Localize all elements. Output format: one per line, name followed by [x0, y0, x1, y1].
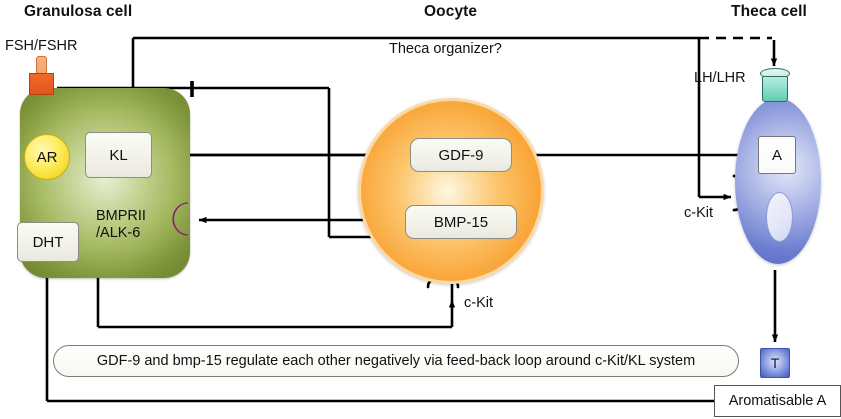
oocyte-ckit-label: c-Kit — [464, 295, 493, 311]
bmp15-node[interactable]: BMP-15 — [405, 205, 517, 239]
kl-node[interactable]: KL — [85, 132, 152, 178]
column-title-oocyte: Oocyte — [424, 3, 477, 21]
alk6-label-line2: /ALK-6 — [96, 225, 146, 242]
aromatisable-a-node[interactable]: Aromatisable A — [714, 385, 841, 417]
feedback-loop-banner: GDF-9 and bmp-15 regulate each other neg… — [53, 345, 739, 377]
bmprii-label-line1: BMPRII — [96, 208, 146, 225]
fsh-fshr-label: FSH/FSHR — [5, 38, 78, 54]
testosterone-t-node[interactable]: T — [760, 348, 790, 378]
column-title-granulosa: Granulosa cell — [24, 3, 132, 21]
oocyte-cell-body — [358, 98, 544, 284]
dht-node[interactable]: DHT — [17, 222, 79, 262]
fshr-receptor-icon — [29, 73, 54, 95]
bmprii-alk6-receptor-icon — [168, 200, 193, 238]
column-title-theca: Theca cell — [731, 3, 807, 21]
gdf9-node[interactable]: GDF-9 — [410, 138, 512, 172]
bmprii-alk6-label: BMPRII /ALK-6 — [96, 208, 146, 242]
lh-lhr-label: LH/LHR — [694, 70, 746, 86]
androgen-a-node[interactable]: A — [758, 136, 796, 174]
lhr-receptor-icon — [762, 76, 788, 102]
theca-organizer-label: Theca organizer? — [389, 41, 502, 57]
theca-nucleus — [766, 192, 793, 242]
theca-ckit-label: c-Kit — [684, 205, 713, 221]
diagram-canvas: Granulosa cell Oocyte Theca cell FSH/FSH… — [0, 0, 841, 419]
ar-node[interactable]: AR — [24, 134, 70, 180]
